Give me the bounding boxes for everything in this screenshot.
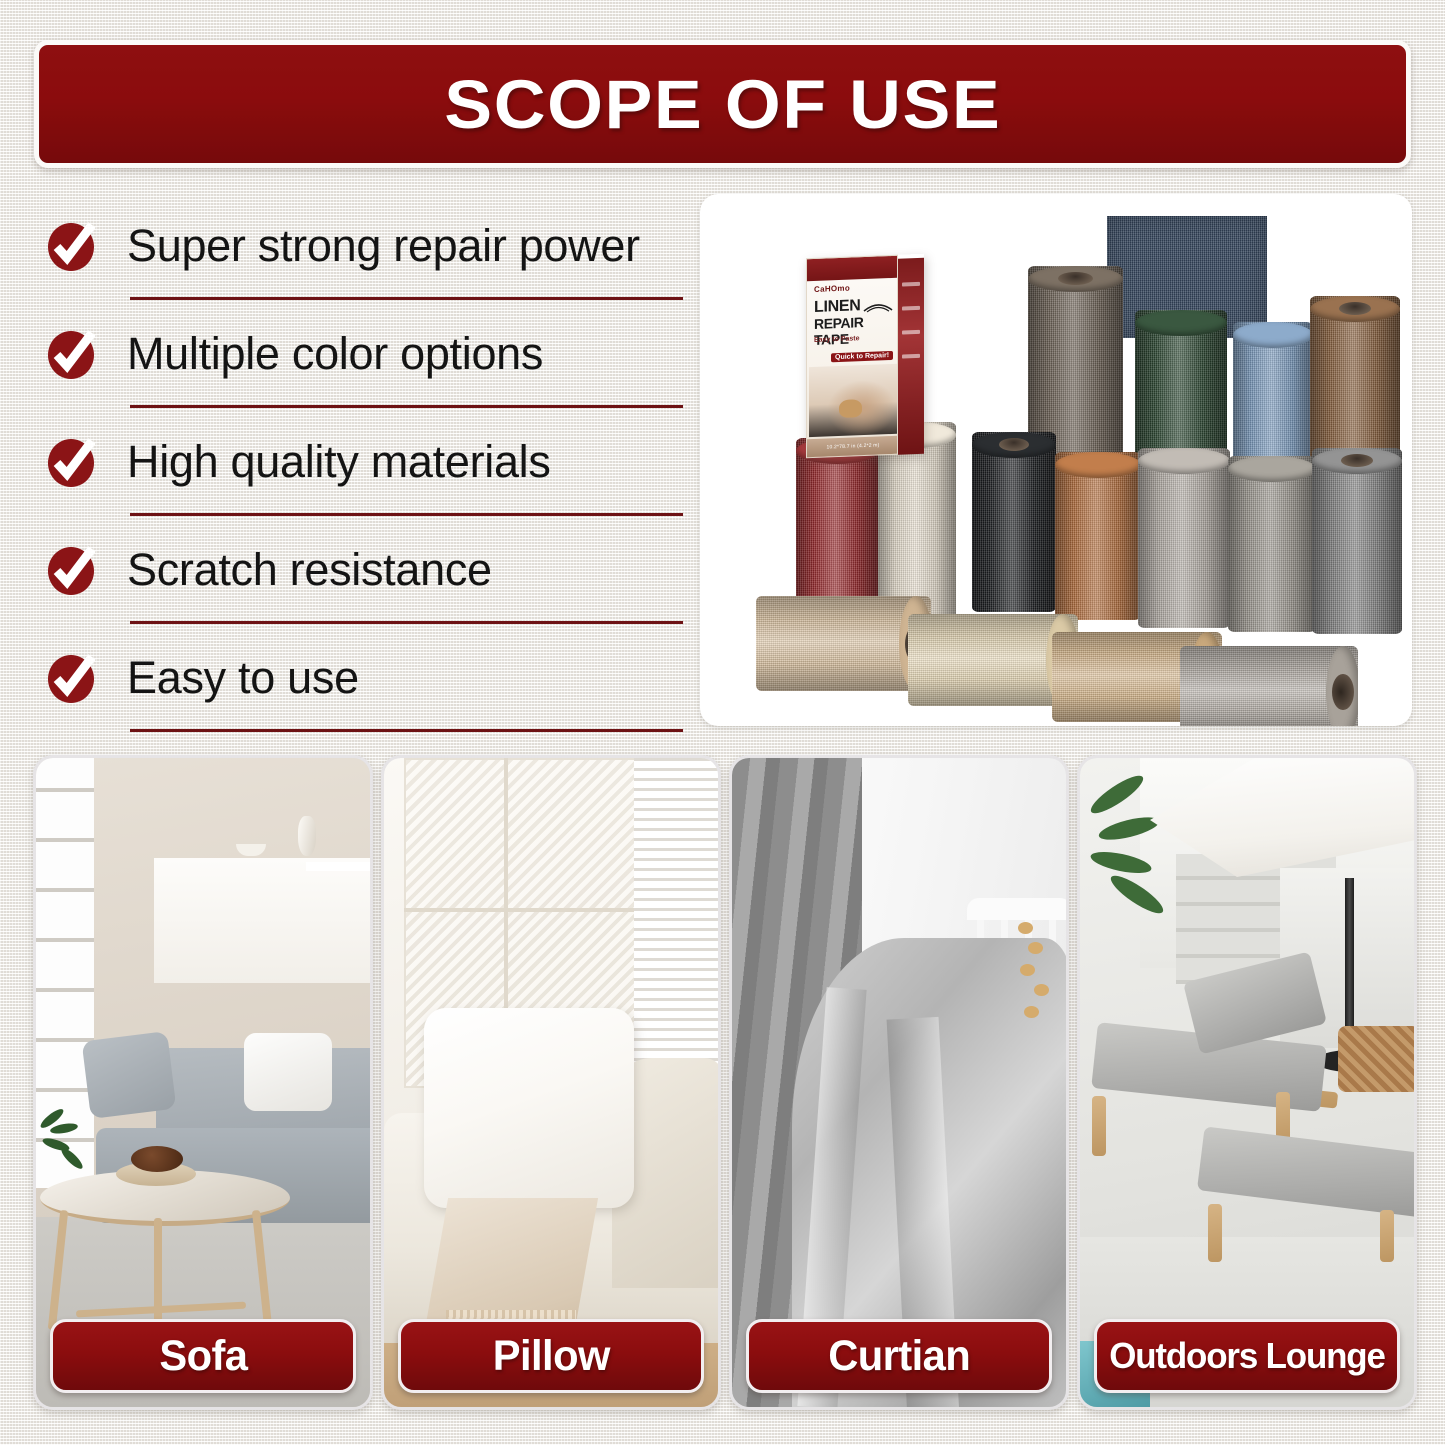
box-top-band [807,256,898,282]
check-circle-icon [47,652,95,704]
usecase-card-sofa[interactable]: Sofa [33,755,373,1410]
photo-living-room-sofa [36,758,370,1407]
tape-roll-charcoal [972,432,1056,612]
feature-label: Multiple color options [127,328,543,380]
product-image-card: CaHOmo LINEN REPAIR TAPE Easy to Paste Q… [700,194,1412,726]
feature-label: High quality materials [127,436,551,488]
feature-item: High quality materials [38,408,688,516]
check-circle-icon [47,220,95,272]
usecase-card-curtain[interactable]: Curtian [729,755,1069,1410]
photo-chair-with-pillow [384,758,718,1407]
usecase-label-outdoors-lounge: Outdoors Lounge [1094,1319,1400,1393]
feature-item: Scratch resistance [38,516,688,624]
feature-item: Super strong repair power [38,192,688,300]
check-circle-icon [47,544,95,596]
dried-flower-sprig [1016,918,1060,1028]
feature-label: Scratch resistance [127,544,492,596]
feature-divider [130,729,683,732]
brand-logo: CaHOmo [814,284,850,294]
box-photo-sofa-dog [809,364,897,437]
usecase-card-pillow[interactable]: Pillow [381,755,721,1410]
tape-roll-gray [1312,448,1402,634]
box-tagline-2: Quick to Repair! [831,351,893,362]
house-roof-icon [863,298,893,313]
box-side-panel [898,258,924,455]
tape-roll-light-gray [1138,448,1230,628]
feature-label: Easy to use [127,652,359,704]
check-circle-icon [47,436,95,488]
tape-roll-mid-gray [1228,456,1316,632]
usecase-card-outdoors-lounge[interactable]: Outdoors Lounge [1077,755,1417,1410]
box-spec-text: 10.2*78.7 in (4.2*2 m) [807,436,898,458]
usecase-label-sofa: Sofa [50,1319,356,1393]
photo-outdoor-loungers [1080,758,1414,1407]
photo-gray-curtain [732,758,1066,1407]
feature-item: Easy to use [38,624,688,732]
usecase-label-pillow: Pillow [398,1319,704,1393]
tape-roll-stone-lying [1180,646,1358,726]
check-circle-icon [47,328,95,380]
feature-label: Super strong repair power [127,220,640,272]
product-scene: CaHOmo LINEN REPAIR TAPE Easy to Paste Q… [700,194,1412,726]
box-front-panel: CaHOmo LINEN REPAIR TAPE Easy to Paste Q… [806,255,898,459]
tape-roll-terracotta [1055,452,1141,620]
usecase-label-curtain: Curtian [746,1319,1052,1393]
feature-item: Multiple color options [38,300,688,408]
scope-of-use-banner: SCOPE OF USE [34,40,1411,168]
tape-roll-beige-lying [756,596,931,691]
banana-plant [1080,768,1190,958]
page-title: SCOPE OF USE [444,65,1001,144]
feature-list: Super strong repair power Multiple color… [38,192,688,732]
product-box: CaHOmo LINEN REPAIR TAPE Easy to Paste Q… [806,254,924,459]
